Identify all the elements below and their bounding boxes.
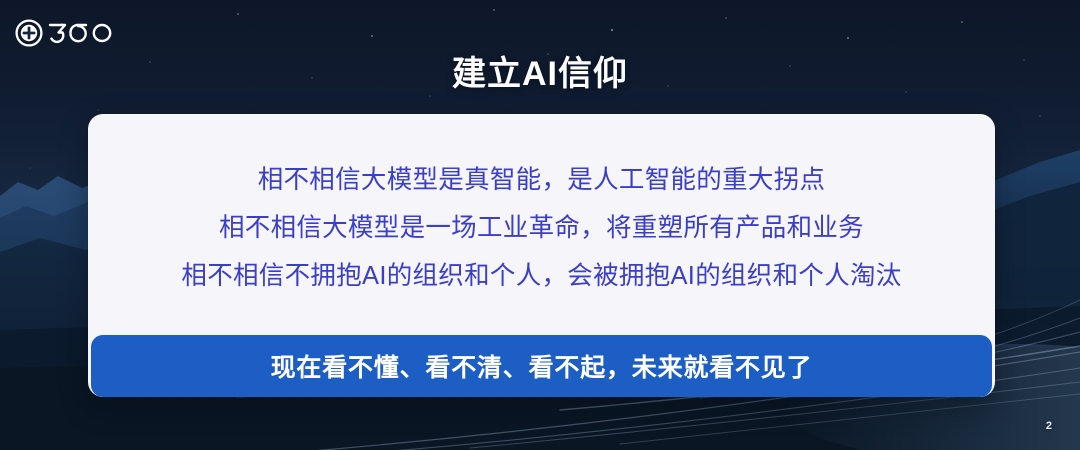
page-number: 2 [1046, 420, 1052, 432]
360-wordmark-icon [48, 19, 120, 47]
highlight-banner-text: 现在看不懂、看不清、看不起，未来就看不见了 [271, 348, 813, 384]
highlight-banner: 现在看不懂、看不清、看不起，未来就看不见了 [91, 335, 992, 397]
statement-line-3: 相不相信不拥抱AI的组织和个人，会被拥抱AI的组织和个人淘汰 [181, 253, 901, 299]
statement-line-2: 相不相信大模型是一场工业革命，将重塑所有产品和业务 [219, 205, 864, 251]
360-logo-icon [14, 18, 44, 48]
statement-line-1: 相不相信大模型是真智能，是人工智能的重大拐点 [258, 157, 826, 203]
content-card: 相不相信大模型是真智能，是人工智能的重大拐点 相不相信大模型是一场工业革命，将重… [88, 114, 995, 397]
brand-logo: 360 [14, 16, 124, 50]
card-statement-list: 相不相信大模型是真智能，是人工智能的重大拐点 相不相信大模型是一场工业革命，将重… [88, 114, 995, 335]
slide-canvas: 360 建立AI信仰 相不相信大模型是真智能，是人工智能的重大拐点 相不相信大模… [0, 0, 1080, 450]
page-title: 建立AI信仰 [0, 46, 1080, 95]
